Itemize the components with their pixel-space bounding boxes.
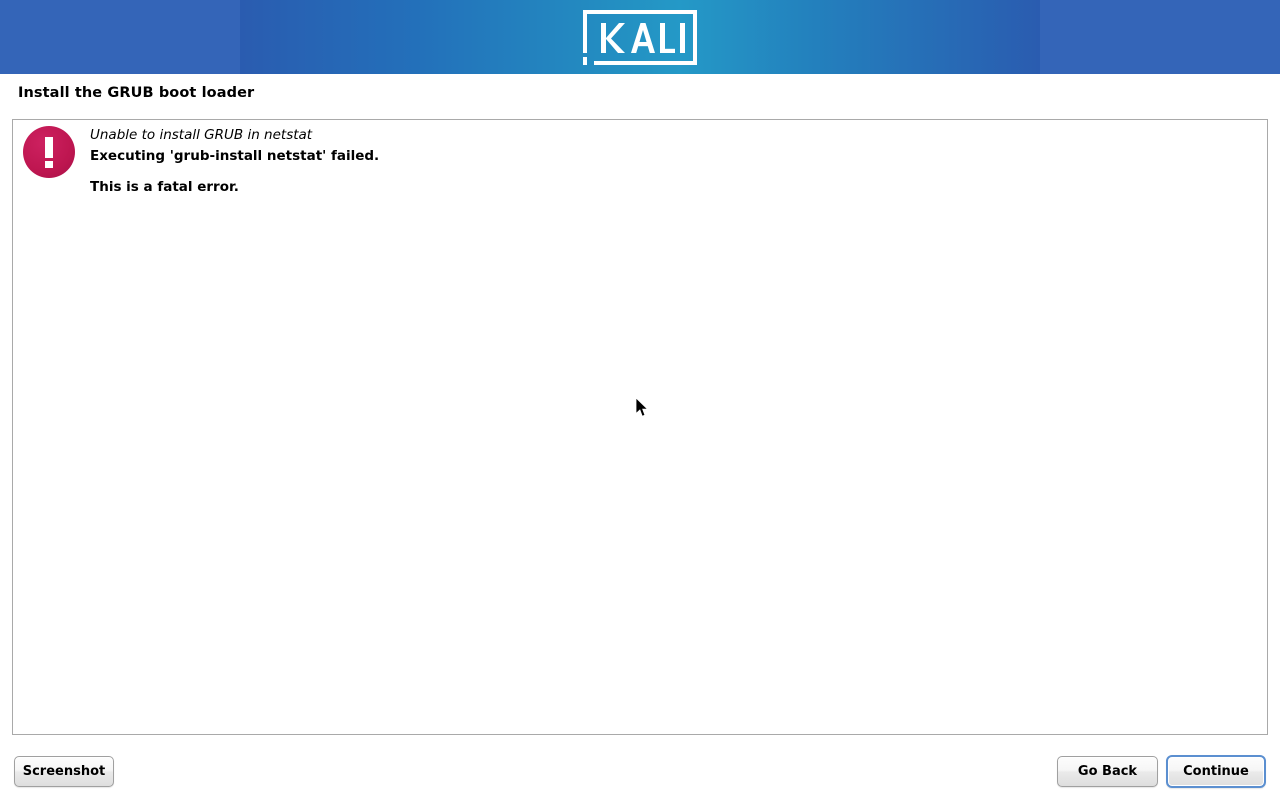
exclamation-dot	[45, 161, 53, 168]
screenshot-button[interactable]: Screenshot	[14, 756, 114, 787]
error-heading: Unable to install GRUB in netstat	[78, 126, 1178, 145]
error-dialog: Unable to install GRUB in netstat Execut…	[13, 120, 1267, 126]
error-message: Executing 'grub-install netstat' failed.	[78, 146, 1178, 166]
continue-button[interactable]: Continue	[1166, 755, 1266, 788]
content-panel: Unable to install GRUB in netstat Execut…	[12, 119, 1268, 735]
page-title: Install the GRUB boot loader	[18, 85, 254, 101]
go-back-button-label: Go Back	[1078, 764, 1137, 779]
error-text-group: Unable to install GRUB in netstat Execut…	[78, 126, 1178, 197]
exclamation-stem	[45, 137, 53, 158]
installer-banner	[0, 0, 1280, 74]
continue-button-label: Continue	[1183, 764, 1249, 779]
error-fatal-note: This is a fatal error.	[78, 177, 1178, 197]
error-exclamation-icon	[23, 126, 75, 178]
go-back-button[interactable]: Go Back	[1057, 756, 1158, 787]
kali-logo	[583, 10, 697, 65]
screenshot-button-label: Screenshot	[23, 764, 106, 779]
